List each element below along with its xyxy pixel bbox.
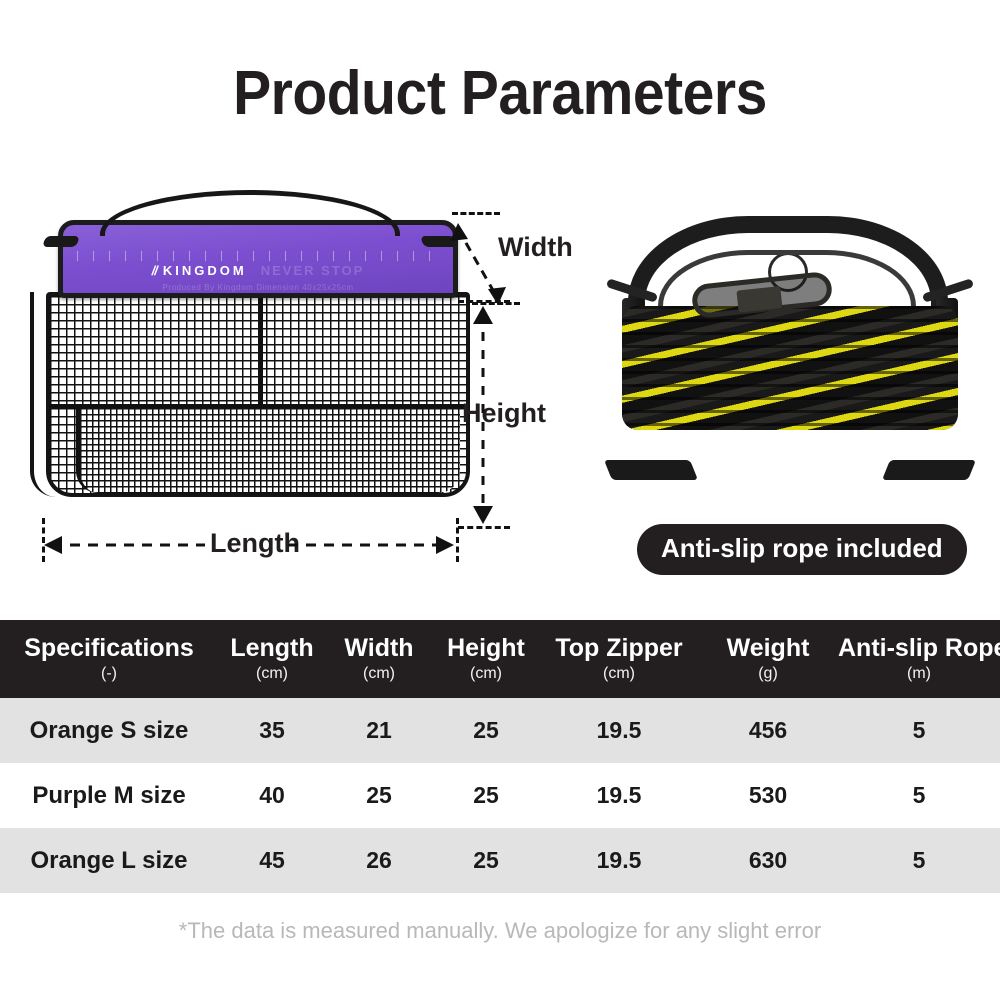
- cell-height: 25: [432, 847, 540, 874]
- lid-ruler-marks: [77, 251, 439, 261]
- cell-specification: Orange S size: [0, 717, 218, 745]
- basket-front-panel: [76, 408, 460, 493]
- zipper-pull-left: [42, 236, 80, 247]
- lid-tagline: NEVER STOP: [261, 263, 365, 278]
- cell-height: 25: [432, 782, 540, 809]
- tick-height-top: [458, 300, 510, 303]
- column-header-anti-slip-rope: Anti-slip Rope (m): [838, 635, 1000, 682]
- handle-foot-left: [604, 460, 698, 480]
- dimension-arrow-height: [463, 300, 503, 530]
- column-header-weight: Weight (g): [698, 635, 838, 682]
- cell-width: 21: [326, 717, 432, 744]
- carabiner-grip: [736, 286, 782, 312]
- product-parameters-infographic: Product Parameters //KINGDOMNEVER STOP P…: [0, 0, 1000, 1000]
- column-header-width: Width (cm): [326, 635, 432, 682]
- page-title: Product Parameters: [40, 58, 960, 129]
- cell-specification: Orange L size: [0, 847, 218, 875]
- table-header-row: Specifications (-) Length (cm) Width (cm…: [0, 620, 1000, 698]
- basket-mesh-body: [46, 292, 470, 497]
- cell-length: 45: [218, 847, 326, 874]
- cell-length: 40: [218, 782, 326, 809]
- cell-specification: Purple M size: [0, 782, 218, 810]
- mesh-basket-image: //KINGDOMNEVER STOP Produced By Kingdom …: [30, 192, 470, 522]
- cell-width: 25: [326, 782, 432, 809]
- column-header-length: Length (cm): [218, 635, 326, 682]
- coiled-rope: [622, 306, 958, 430]
- specifications-table: Specifications (-) Length (cm) Width (cm…: [0, 620, 1000, 893]
- lid-brand-text: //KINGDOMNEVER STOP: [63, 263, 453, 278]
- kingdom-logo-icon: //: [152, 263, 157, 278]
- cell-width: 26: [326, 847, 432, 874]
- anti-slip-rope-image: [600, 210, 980, 510]
- table-row: Purple M size 40 25 25 19.5 530 5: [0, 763, 1000, 828]
- column-header-top-zipper: Top Zipper (cm): [540, 635, 698, 682]
- lid-rope-handle: [100, 190, 400, 236]
- tick-height-bottom: [458, 526, 510, 529]
- tick-width-top: [452, 212, 500, 215]
- footnote: *The data is measured manually. We apolo…: [0, 918, 1000, 944]
- anti-slip-rope-badge: Anti-slip rope included: [637, 524, 967, 575]
- column-header-specifications: Specifications (-): [0, 635, 218, 682]
- cell-length: 35: [218, 717, 326, 744]
- tick-length-right: [456, 518, 459, 562]
- basket-seam-vertical: [258, 296, 263, 404]
- cell-anti-slip-rope: 5: [838, 717, 1000, 744]
- lid-brand-name: KINGDOM: [163, 263, 247, 278]
- cell-top-zipper: 19.5: [540, 782, 698, 809]
- cell-anti-slip-rope: 5: [838, 847, 1000, 874]
- table-row: Orange L size 45 26 25 19.5 630 5: [0, 828, 1000, 893]
- cell-weight: 530: [698, 782, 838, 809]
- dimension-arrow-length: [40, 528, 460, 562]
- column-header-height: Height (cm): [432, 635, 540, 682]
- basket-corner-edge: [30, 292, 64, 497]
- table-row: Orange S size 35 21 25 19.5 456 5: [0, 698, 1000, 763]
- cell-top-zipper: 19.5: [540, 847, 698, 874]
- cell-top-zipper: 19.5: [540, 717, 698, 744]
- tick-length-left: [42, 518, 45, 562]
- cell-weight: 630: [698, 847, 838, 874]
- cell-weight: 456: [698, 717, 838, 744]
- handle-foot-right: [882, 460, 976, 480]
- lid-subline: Produced By Kingdom Dimension 40x25x25cm: [63, 283, 453, 292]
- cell-anti-slip-rope: 5: [838, 782, 1000, 809]
- cell-height: 25: [432, 717, 540, 744]
